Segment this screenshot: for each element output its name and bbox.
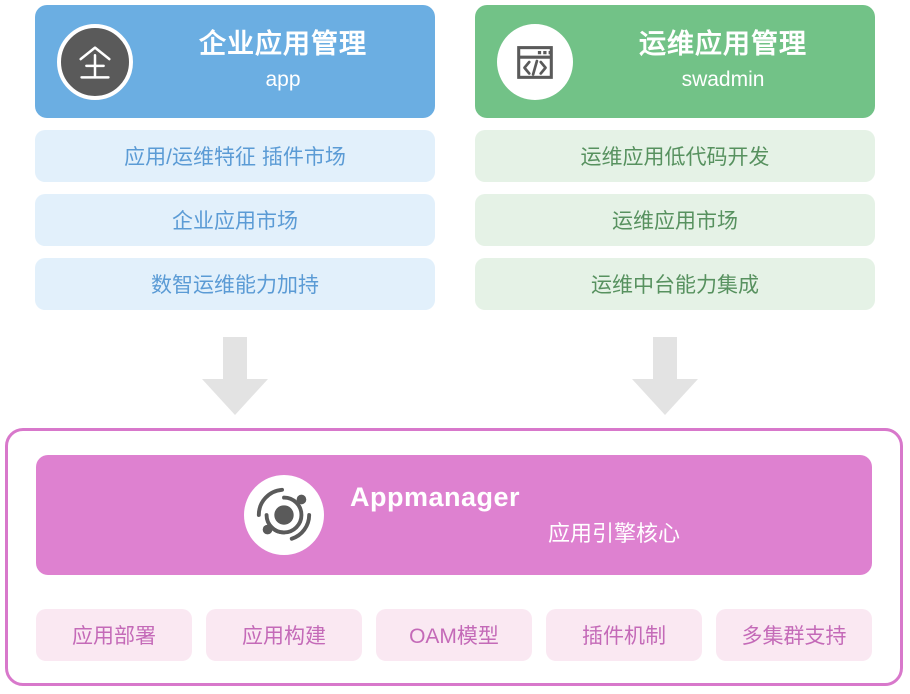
tag-app-deploy[interactable]: 应用部署 (36, 609, 192, 661)
column-enterprise-app: 企业应用管理 app 应用/运维特征 插件市场 企业应用市场 数智运维能力加持 (35, 5, 435, 310)
sub-item-smart-ops-capability[interactable]: 数智运维能力加持 (35, 258, 435, 310)
sub-item-enterprise-app-market[interactable]: 企业应用市场 (35, 194, 435, 246)
code-window-icon (497, 24, 573, 100)
core-card-appmanager[interactable]: Appmanager 应用引擎核心 (36, 455, 872, 575)
tag-app-build[interactable]: 应用构建 (206, 609, 362, 661)
orbit-core-icon (244, 475, 324, 555)
header-subtitle-enterprise-app: app (265, 64, 300, 96)
diagram-canvas: 企业应用管理 app 应用/运维特征 插件市场 企业应用市场 数智运维能力加持 (0, 0, 910, 694)
header-text-enterprise-app: 企业应用管理 app (145, 28, 435, 95)
enterprise-qi-icon (57, 24, 133, 100)
sub-item-ops-app-market[interactable]: 运维应用市场 (475, 194, 875, 246)
core-subtitle: 应用引擎核心 (542, 517, 680, 550)
header-card-enterprise-app[interactable]: 企业应用管理 app (35, 5, 435, 118)
header-title-enterprise-app: 企业应用管理 (199, 28, 367, 62)
header-subtitle-ops-app: swadmin (682, 64, 765, 96)
core-tags-row: 应用部署 应用构建 OAM模型 插件机制 多集群支持 (36, 609, 872, 661)
header-title-ops-app: 运维应用管理 (639, 28, 807, 62)
sub-item-app-ops-feature-plugin-market[interactable]: 应用/运维特征 插件市场 (35, 130, 435, 182)
header-text-ops-app: 运维应用管理 swadmin (585, 28, 875, 95)
header-card-ops-app[interactable]: 运维应用管理 swadmin (475, 5, 875, 118)
tag-oam-model[interactable]: OAM模型 (376, 609, 532, 661)
sub-item-ops-app-lowcode-dev[interactable]: 运维应用低代码开发 (475, 130, 875, 182)
sub-item-ops-platform-integration[interactable]: 运维中台能力集成 (475, 258, 875, 310)
arrow-down-icon-right (630, 337, 700, 415)
arrow-down-icon-left (200, 337, 270, 415)
tag-plugin-mechanism[interactable]: 插件机制 (546, 609, 702, 661)
core-title: Appmanager (350, 480, 520, 515)
column-ops-app: 运维应用管理 swadmin 运维应用低代码开发 运维应用市场 运维中台能力集成 (475, 5, 875, 310)
tag-multi-cluster-support[interactable]: 多集群支持 (716, 609, 872, 661)
core-text-appmanager: Appmanager 应用引擎核心 (350, 480, 872, 550)
core-panel: Appmanager 应用引擎核心 应用部署 应用构建 OAM模型 插件机制 多… (5, 428, 903, 686)
top-columns: 企业应用管理 app 应用/运维特征 插件市场 企业应用市场 数智运维能力加持 (0, 0, 910, 310)
